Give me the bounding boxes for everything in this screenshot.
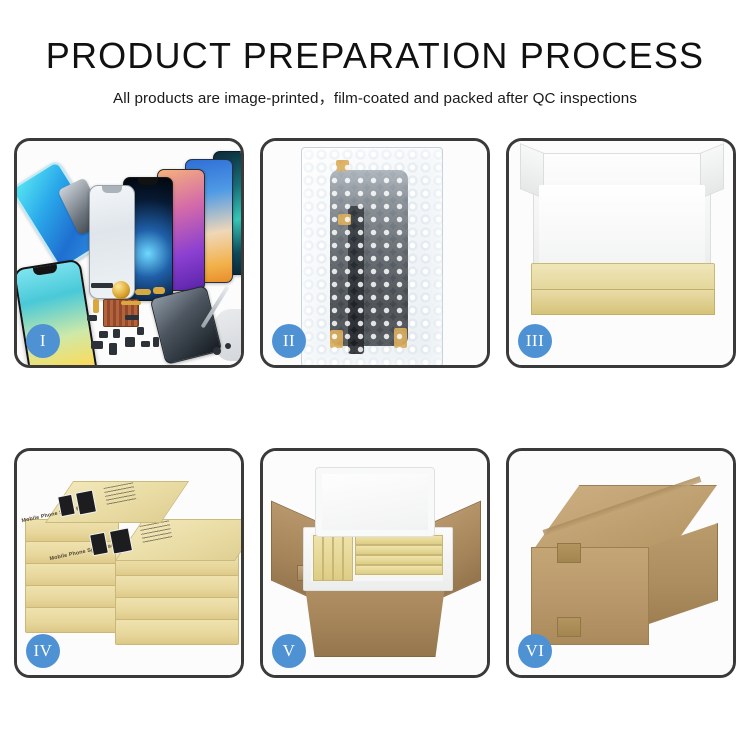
box-label-1: Mobile Phone Spare Parts: [21, 504, 91, 524]
panel-step-2[interactable]: II: [260, 138, 490, 368]
page-subtitle: All products are image-printed，film-coat…: [0, 86, 750, 108]
step-badge-3: III: [518, 324, 552, 358]
step-badge-5: V: [272, 634, 306, 668]
panel-step-6[interactable]: VI: [506, 448, 736, 678]
page-header: PRODUCT PREPARATION PROCESS All products…: [0, 0, 750, 108]
step-badge-4: IV: [26, 634, 60, 668]
step-badge-2: II: [272, 324, 306, 358]
page-title: PRODUCT PREPARATION PROCESS: [0, 38, 750, 74]
box-stack: Mobile Phone Spare Parts Mobile Phone Sp…: [25, 475, 237, 655]
panel-step-5[interactable]: V: [260, 448, 490, 678]
bubble-wrap: [301, 147, 443, 367]
step-badge-6: VI: [518, 634, 552, 668]
box-label-2: Mobile Phone Spare Parts: [49, 542, 119, 562]
panel-step-1[interactable]: I: [14, 138, 244, 368]
step-badge-1: I: [26, 324, 60, 358]
process-panel-grid: I II III: [14, 138, 736, 678]
panel-step-4[interactable]: Mobile Phone Spare Parts Mobile Phone Sp…: [14, 448, 244, 678]
panel-step-3[interactable]: III: [506, 138, 736, 368]
